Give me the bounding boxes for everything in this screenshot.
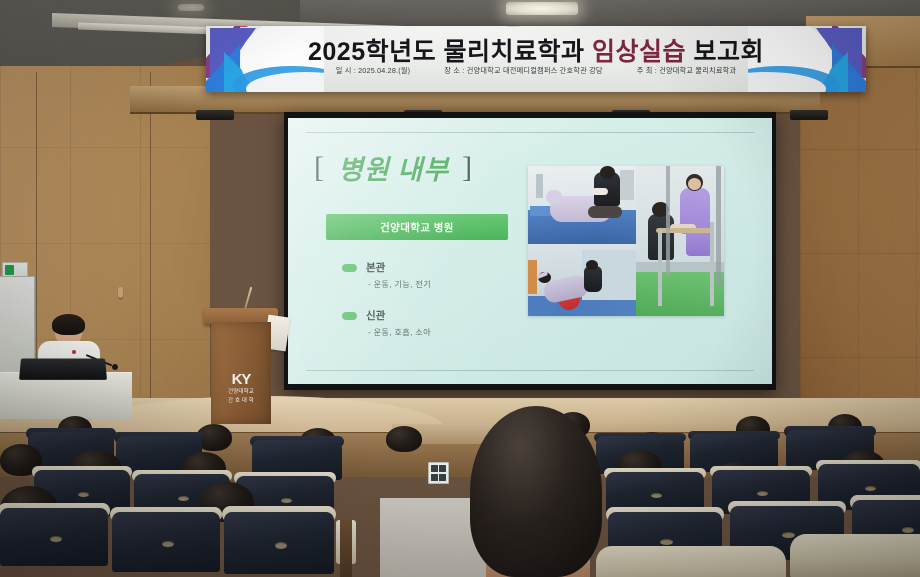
slide-title-text: 병원 내부 [338,148,449,187]
foreground-seat[interactable] [790,534,920,577]
bullet-pill-icon [342,312,357,320]
door-handle[interactable] [118,287,123,298]
bullet-item: 본관 [342,260,552,275]
audience-head [386,426,422,452]
banner-detail-place: 장 소 : 건양대학교 대전메디컬캠퍼스 간호학관 강당 [444,66,602,76]
event-banner: 2025학년도 물리치료학과 임상실습 보고회 일 시 : 2025.04.28… [206,26,866,92]
ceiling-speaker [196,110,234,120]
bracket-open: [ [314,151,325,185]
banner-title-part-1: 2025학년도 물리치료학과 [308,38,592,66]
microphone-head-icon [112,364,118,370]
podium-logo-line2: 간 호 대 학 [211,398,271,405]
bullet-heading: 신관 [366,308,385,323]
lecture-hall-photo: 2025학년도 물리치료학과 임상실습 보고회 일 시 : 2025.04.28… [0,0,920,577]
presenter-hair [52,314,85,335]
slide-photo-ball-exercise [528,244,636,316]
slide-section-banner: 건양대학교 병원 [326,214,508,240]
bracket-close: ] [462,151,473,185]
audience-seat[interactable] [0,508,108,566]
banner-detail-date: 일 시 : 2025.04.28.(월) [336,66,411,76]
bullet-item: 신관 [342,308,552,323]
slide-title: [ 병원 내부 ] [314,148,473,187]
banner-detail-host: 주 최 : 건양대학교 물리치료학과 [637,66,737,76]
wall-outlet [428,462,449,484]
slide-photo-parallel-bars [636,166,724,316]
banner-details: 일 시 : 2025.04.28.(월) 장 소 : 건양대학교 대전메디컬캠퍼… [206,66,866,76]
podium-logo-line1: 건양대학교 [211,389,271,396]
slide-rule-bottom [306,370,754,371]
audience-seat[interactable] [112,512,220,572]
banner-title: 2025학년도 물리치료학과 임상실습 보고회 [206,32,866,68]
bullet-subtext: - 운동, 호흡, 소아 [368,326,552,338]
ceiling-light [506,2,578,15]
podium-logo: KY 건양대학교 간 호 대 학 [211,372,271,405]
slide-photo-mat-exercise [528,166,636,244]
banner-title-part-3: 보고회 [686,38,764,66]
audience-seat[interactable] [224,512,334,574]
bullet-heading: 본관 [366,260,385,275]
ceiling-light [178,4,204,11]
bullet-pill-icon [342,264,357,272]
foreground-attendee-head [470,406,602,577]
podium-logo-mark: KY [211,372,271,387]
banner-title-highlight: 임상실습 [592,38,686,66]
presenter-badge [72,350,76,354]
slide-rule-top [306,132,754,133]
podium: KY 건양대학교 간 호 대 학 [204,308,278,424]
projection-screen: [ 병원 내부 ] 건양대학교 병원 본관 - 운동, 기능, 전기 신관 - … [288,118,772,384]
slide-bullet-list: 본관 - 운동, 기능, 전기 신관 - 운동, 호흡, 소아 [342,260,552,356]
foreground-seat[interactable] [596,546,786,577]
seat-leg [340,520,352,577]
presenter-monitor [19,359,107,380]
bullet-subtext: - 운동, 기능, 전기 [368,278,552,290]
podium-body: KY 건양대학교 간 호 대 학 [211,322,271,424]
banner-strap [506,26,520,27]
ceiling-speaker [790,110,828,120]
slide-photo-collage [528,166,724,316]
